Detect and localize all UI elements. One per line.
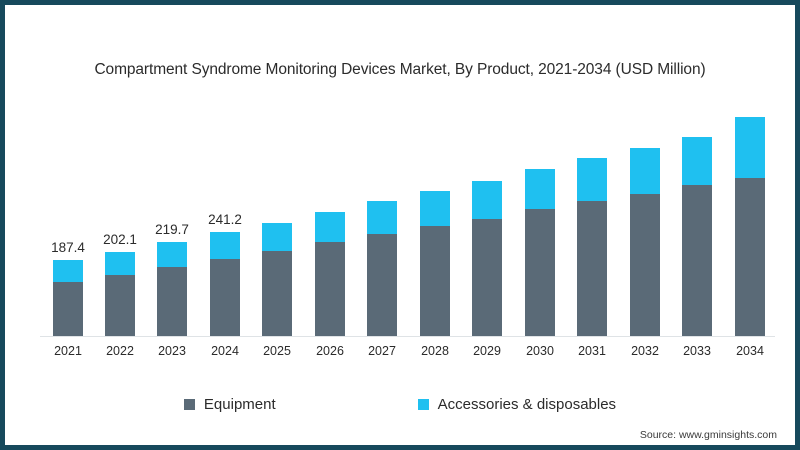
x-axis-tick-2022: 2022 bbox=[90, 344, 150, 358]
bar-segment-equipment bbox=[367, 234, 397, 337]
equipment-swatch bbox=[184, 399, 195, 410]
bar-segment-accessories bbox=[53, 260, 83, 282]
x-axis-tick-2030: 2030 bbox=[510, 344, 570, 358]
bar-segment-accessories bbox=[735, 117, 765, 178]
bar-segment-equipment bbox=[315, 242, 345, 337]
bar-segment-equipment bbox=[53, 282, 83, 337]
bar-segment-equipment bbox=[420, 226, 450, 337]
bar-2021[interactable]: 187.4 bbox=[53, 260, 83, 337]
bar-segment-equipment bbox=[157, 267, 187, 337]
bar-value-label: 202.1 bbox=[103, 232, 137, 247]
legend: EquipmentAccessories & disposables bbox=[5, 396, 795, 413]
bar-2024[interactable]: 241.2 bbox=[210, 232, 240, 337]
bar-value-label: 219.7 bbox=[155, 222, 189, 237]
bar-segment-accessories bbox=[367, 201, 397, 234]
bar-2032[interactable] bbox=[630, 148, 660, 337]
bar-segment-equipment bbox=[210, 259, 240, 337]
x-axis-tick-2029: 2029 bbox=[457, 344, 517, 358]
bar-segment-accessories bbox=[682, 137, 712, 185]
legend-item-equipment[interactable]: Equipment bbox=[184, 396, 276, 413]
bar-2031[interactable] bbox=[577, 158, 607, 337]
bar-2033[interactable] bbox=[682, 137, 712, 337]
x-axis-tick-2026: 2026 bbox=[300, 344, 360, 358]
legend-label: Equipment bbox=[204, 396, 276, 413]
x-axis-tick-2034: 2034 bbox=[720, 344, 780, 358]
bar-2023[interactable]: 219.7 bbox=[157, 242, 187, 337]
bar-segment-equipment bbox=[525, 209, 555, 337]
x-axis-tick-2023: 2023 bbox=[142, 344, 202, 358]
x-axis-tick-2028: 2028 bbox=[405, 344, 465, 358]
chart-figure: Compartment Syndrome Monitoring Devices … bbox=[0, 0, 800, 450]
bar-segment-equipment bbox=[262, 251, 292, 337]
page-title: Compartment Syndrome Monitoring Devices … bbox=[5, 61, 795, 79]
legend-label: Accessories & disposables bbox=[438, 396, 616, 413]
bar-segment-accessories bbox=[315, 212, 345, 242]
bar-segment-accessories bbox=[472, 181, 502, 219]
x-axis-tick-2031: 2031 bbox=[562, 344, 622, 358]
plot-area: 187.4202.1219.7241.2 bbox=[40, 105, 775, 337]
bar-2030[interactable] bbox=[525, 169, 555, 337]
x-axis-tick-2021: 2021 bbox=[38, 344, 98, 358]
accessories-swatch bbox=[418, 399, 429, 410]
bar-segment-equipment bbox=[472, 219, 502, 337]
bar-segment-accessories bbox=[105, 252, 135, 275]
legend-item-accessories[interactable]: Accessories & disposables bbox=[418, 396, 616, 413]
x-axis-tick-2033: 2033 bbox=[667, 344, 727, 358]
bar-2034[interactable] bbox=[735, 117, 765, 337]
bar-segment-accessories bbox=[420, 191, 450, 226]
bar-value-label: 241.2 bbox=[208, 212, 242, 227]
bar-segment-accessories bbox=[157, 242, 187, 267]
bar-2028[interactable] bbox=[420, 191, 450, 337]
bar-value-label: 187.4 bbox=[51, 240, 85, 255]
bar-2025[interactable] bbox=[262, 223, 292, 337]
bar-segment-accessories bbox=[577, 158, 607, 201]
bar-2027[interactable] bbox=[367, 201, 397, 337]
bar-2022[interactable]: 202.1 bbox=[105, 252, 135, 337]
bar-2029[interactable] bbox=[472, 181, 502, 337]
bar-segment-accessories bbox=[262, 223, 292, 251]
source-attribution: Source: www.gminsights.com bbox=[640, 429, 777, 441]
x-axis-tick-2024: 2024 bbox=[195, 344, 255, 358]
bar-segment-equipment bbox=[630, 194, 660, 337]
bar-segment-equipment bbox=[577, 201, 607, 337]
x-axis-baseline bbox=[40, 336, 775, 337]
x-axis-tick-2027: 2027 bbox=[352, 344, 412, 358]
bar-segment-equipment bbox=[105, 275, 135, 337]
bar-segment-equipment bbox=[735, 178, 765, 337]
bar-segment-accessories bbox=[525, 169, 555, 209]
x-axis-tick-2032: 2032 bbox=[615, 344, 675, 358]
bar-segment-accessories bbox=[630, 148, 660, 194]
x-axis-tick-2025: 2025 bbox=[247, 344, 307, 358]
bar-2026[interactable] bbox=[315, 212, 345, 337]
bar-segment-accessories bbox=[210, 232, 240, 259]
bar-segment-equipment bbox=[682, 185, 712, 337]
